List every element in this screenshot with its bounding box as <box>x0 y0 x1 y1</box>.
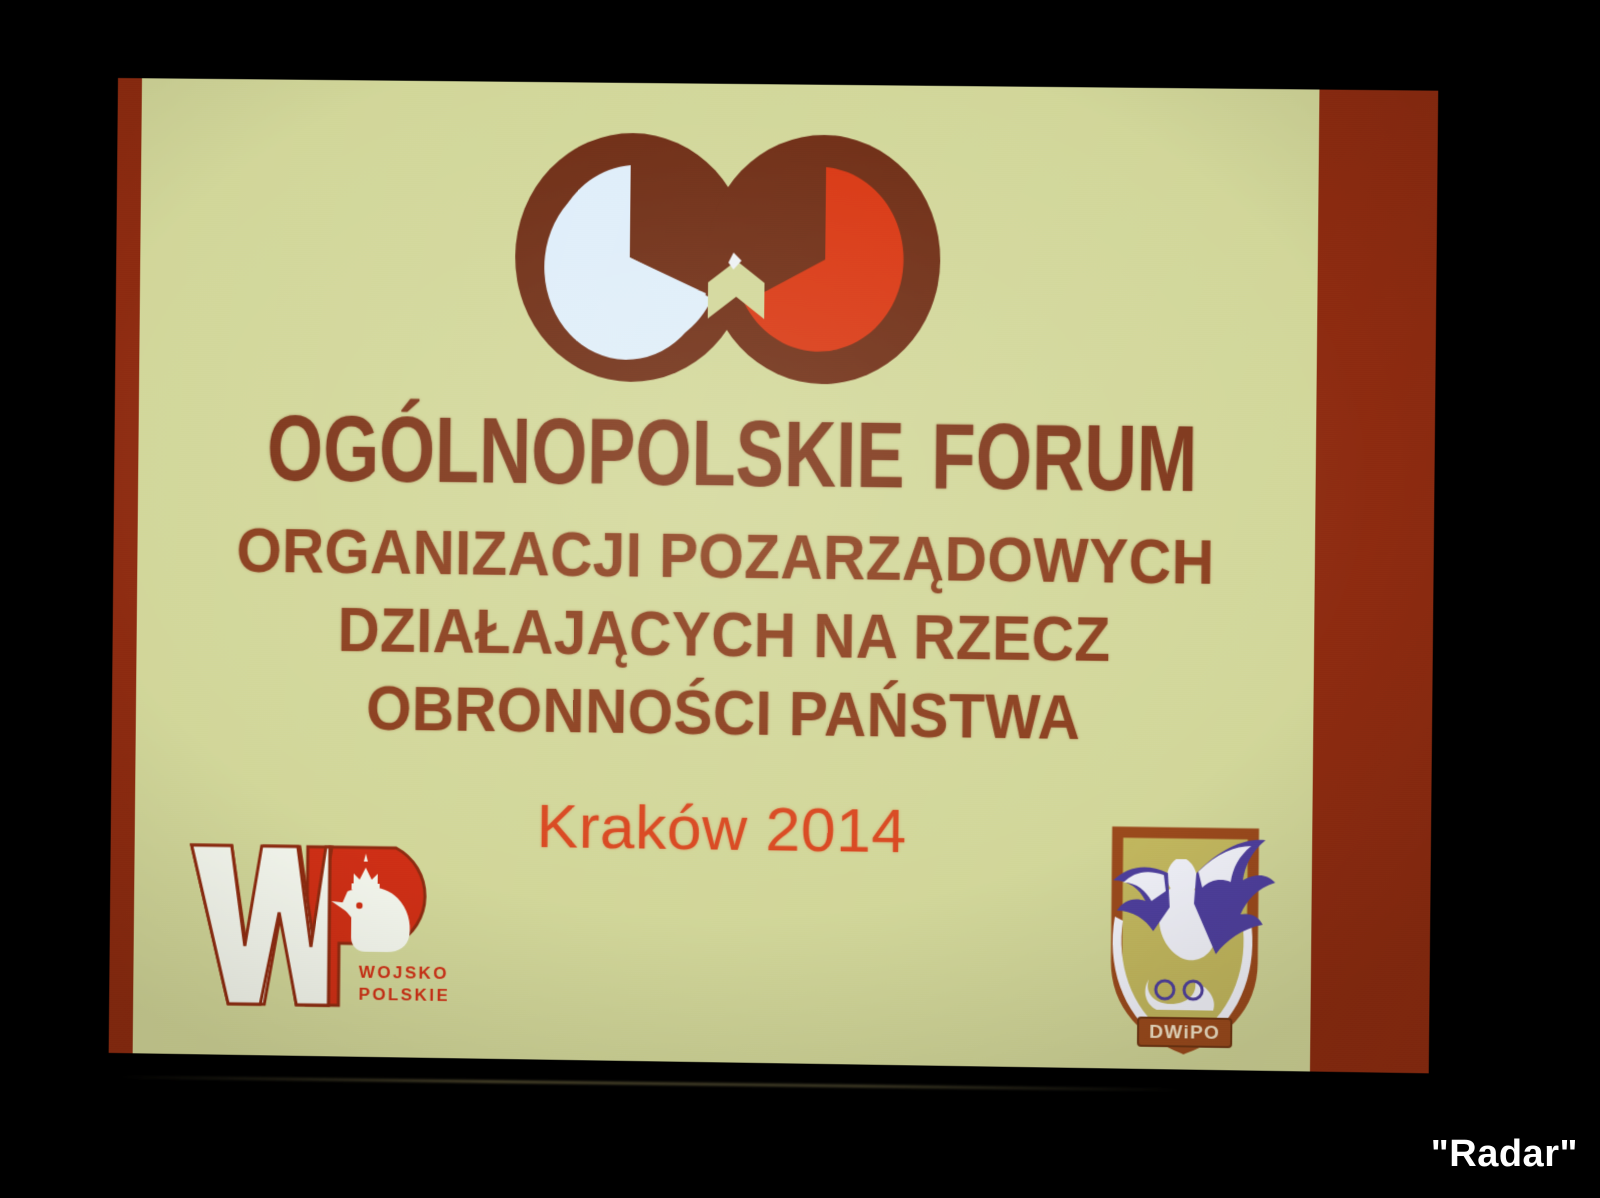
svg-text:DWiPO: DWiPO <box>1149 1022 1220 1044</box>
svg-text:POLSKIE: POLSKIE <box>358 985 448 1005</box>
svg-text:WOJSKO: WOJSKO <box>359 963 449 983</box>
radar-watermark: "Radar" <box>1431 1133 1578 1176</box>
slide-subtitle-line-3: OBRONNOŚCI PAŃSTWA <box>182 675 1266 753</box>
photograph-of-projection-screen: OGÓLNOPOLSKIEFORUM ORGANIZACJI POZARZĄDO… <box>0 0 1600 1198</box>
forum-emblem <box>509 130 945 388</box>
slide-subtitle-line-1: ORGANIZACJI POZARZĄDOWYCH <box>184 519 1268 596</box>
screen-reflection-line <box>120 1076 1180 1092</box>
slide-right-border-band <box>1310 90 1438 1074</box>
slide-title-word-2: FORUM <box>931 405 1198 511</box>
slide-title: OGÓLNOPOLSKIEFORUM <box>267 403 1186 506</box>
slide-subtitle-line-2: DZIAŁAJĄCYCH NA RZECZ <box>183 597 1267 674</box>
wojsko-polskie-logo: WOJSKO POLSKIE <box>178 837 448 1016</box>
slide-content-area: OGÓLNOPOLSKIEFORUM ORGANIZACJI POZARZĄDO… <box>133 78 1320 1071</box>
slide-canvas: OGÓLNOPOLSKIEFORUM ORGANIZACJI POZARZĄDO… <box>109 78 1439 1073</box>
projected-slide: OGÓLNOPOLSKIEFORUM ORGANIZACJI POZARZĄDO… <box>109 78 1439 1073</box>
slide-title-word-1: OGÓLNOPOLSKIE <box>267 398 905 508</box>
dwipo-emblem: DWiPO <box>1081 809 1284 1064</box>
